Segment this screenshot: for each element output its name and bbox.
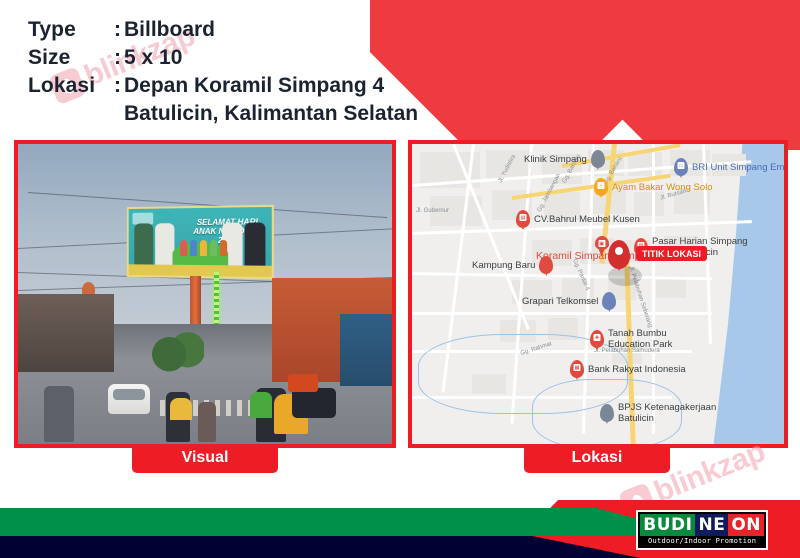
spec-value-lokasi-line2: Batulicin, Kalimantan Selatan [124,102,418,126]
chevron-red-1b [370,0,742,150]
logo-wordmark: BUDI NE ON [640,514,764,536]
chevron-red-2 [523,0,800,150]
map-pin-bank-icon: ▦ [570,360,584,378]
poi-label: Tanah Bumbu Education Park [608,328,704,350]
spec-label-size: Size [28,46,114,70]
chevron-white-2 [523,0,800,150]
spec-sep-lokasi: : [114,74,124,98]
chevron-navy-2 [523,0,800,147]
billboard-person [134,223,153,264]
orange-truck [288,374,318,392]
spec-value-type: Billboard [124,18,215,42]
chevron-white-1 [370,0,742,150]
spec-header: Type : Billboard Size : 5 x 10 Lokasi : … [28,18,418,126]
spec-sep-type: : [114,18,124,42]
chevron-red-3 [632,0,800,150]
map-pin-red-icon [539,256,553,274]
location-map-panel[interactable]: Jl. Gubernur Jl. Yudistira Gg. Jambangan… [408,140,788,448]
poi-label: Bank Rakyat Indonesia [588,364,686,375]
poi-koramil[interactable]: ▣ Koramil Simpang Empat [554,236,649,262]
poi-label: Grapari Telkomsel [522,296,598,307]
map-pin-gray-icon [591,150,605,168]
roadside-trees [146,330,204,374]
poi-kampung-baru[interactable]: Kampung Baru [472,256,553,274]
chevron-red-3b [632,0,800,150]
poi-klinik-simpang[interactable]: Klinik Simpang [524,150,605,168]
white-car [108,384,150,414]
poi-label: Klinik Simpang [524,154,587,165]
chevron-red-1 [370,0,742,150]
map-pin-park-icon: ✚ [590,330,604,348]
billboard-person [245,222,266,265]
logo-part-on: ON [728,514,764,536]
caption-visual: Visual [132,444,278,473]
budi-neon-logo: BUDI NE ON Outdoor/Indoor Promotion [636,510,768,550]
shop-row-left [18,294,114,372]
shop-building-right-2 [340,314,392,386]
poi-grapari[interactable]: Grapari Telkomsel [522,292,616,310]
poi-bank-rakyat[interactable]: ▦ Bank Rakyat Indonesia [570,360,686,378]
logo-part-budi: BUDI [640,514,695,536]
spec-label-type: Type [28,18,114,42]
poi-label: CV.Bahrul Meubel Kusen [534,214,640,225]
spec-value-lokasi: Depan Koramil Simpang 4 [124,74,384,98]
poi-label: Ayam Bakar Wong Solo [612,182,713,193]
billboard-kid [180,240,187,256]
spec-value-size: 5 x 10 [124,46,182,70]
billboard-photo: SELAMAT HARI ANAK NASIONAL 2020 [18,144,392,444]
parked-van [292,388,336,418]
logo-tagline: Outdoor/Indoor Promotion [640,536,764,546]
map-pin-gray-icon [600,404,614,422]
billboard-kid [220,240,227,256]
caption-lokasi: Lokasi [524,444,670,473]
billboard-kid [210,240,217,256]
motorcycle-rider [44,386,74,442]
poi-label: BRI Unit Simpang Empat [692,162,788,173]
poi-label: Kampung Baru [472,260,535,271]
visual-photo-panel[interactable]: SELAMAT HARI ANAK NASIONAL 2020 [14,140,396,448]
poi-bpjs[interactable]: BPJS Ketenagakerjaan Batulicin [600,402,730,424]
spec-row-type: Type : Billboard [28,18,418,42]
poi-cv-bahrul[interactable]: ▤ CV.Bahrul Meubel Kusen [516,210,640,228]
titik-lokasi-marker[interactable] [608,240,630,269]
poi-tanah-bumbu[interactable]: ✚ Tanah Bumbu Education Park [590,328,710,350]
billboard-kid [190,240,197,256]
poi-bri-unit[interactable]: ▭ BRI Unit Simpang Empat [674,158,788,176]
chevron-decoration [370,0,800,150]
billboard-face: SELAMAT HARI ANAK NASIONAL 2020 [127,205,274,279]
rider-jacket [250,392,272,418]
logo-part-ne: NE [695,514,728,536]
sea-water [704,144,784,444]
poi-ayam-bakar[interactable]: ⑂ Ayam Bakar Wong Solo [594,178,713,196]
spec-sep-size: : [114,46,124,70]
spec-label-lokasi: Lokasi [28,74,114,98]
spec-row-size: Size : 5 x 10 [28,46,418,70]
street-label: Jl. Gubernur [416,208,449,214]
marker-shadow [608,266,642,286]
motorcycle-rider [198,402,216,442]
map-pin-store-icon: ▤ [516,210,530,228]
map-pin-blue-icon [602,292,616,310]
rider-hijab [170,398,192,420]
map-pin-gov-icon: ▣ [595,236,609,250]
poi-label: BPJS Ketenagakerjaan Batulicin [618,402,726,424]
spec-row-lokasi: Lokasi : Depan Koramil Simpang 4 [28,74,418,98]
map-pin-restaurant-icon: ⑂ [594,178,608,196]
chevron-red-2b [523,0,800,150]
map-pin-blue-icon: ▭ [674,158,688,176]
chevron-navy-1 [370,0,742,140]
map-canvas[interactable]: Jl. Gubernur Jl. Yudistira Gg. Jambangan… [412,144,784,444]
titik-lokasi-badge: TITIK LOKASI [636,246,707,261]
billboard-kid [200,240,207,256]
